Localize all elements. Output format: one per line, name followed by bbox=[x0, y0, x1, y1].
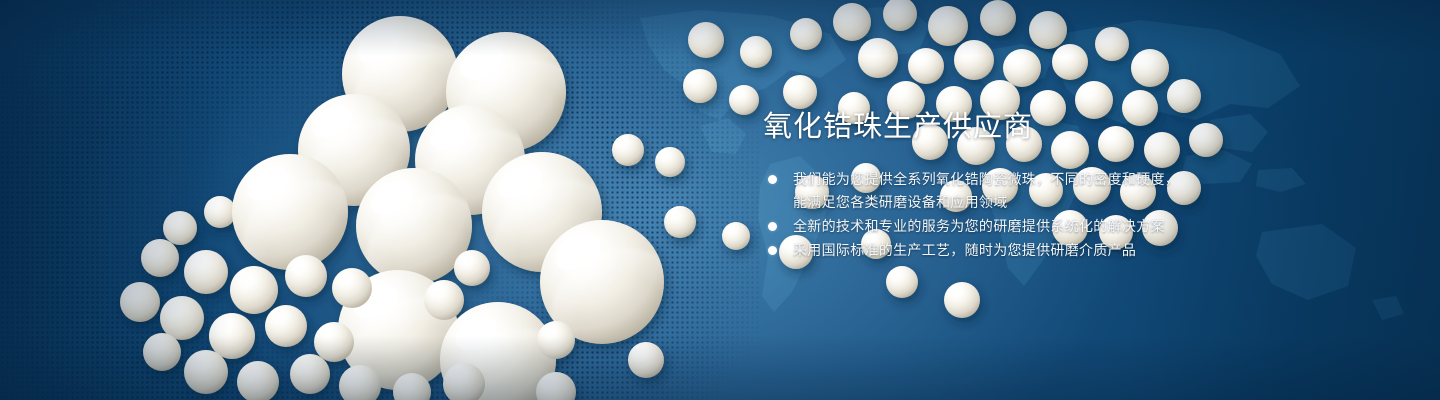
hero-banner: 氧化锆珠生产供应商 我们能为您提供全系列氧化锆陶瓷微珠，不同的密度和硬度， 能满… bbox=[0, 0, 1440, 400]
feature-bullet-item: 全新的技术和专业的服务为您的研磨提供系统化的解决方案 bbox=[763, 215, 1283, 238]
bullet-dot-icon bbox=[768, 246, 777, 255]
bullet-dot-icon bbox=[768, 222, 777, 231]
bullet-line: 全新的技术和专业的服务为您的研磨提供系统化的解决方案 bbox=[793, 215, 1283, 238]
banner-headline: 氧化锆珠生产供应商 bbox=[763, 108, 1283, 146]
banner-copy: 氧化锆珠生产供应商 我们能为您提供全系列氧化锆陶瓷微珠，不同的密度和硬度， 能满… bbox=[763, 108, 1283, 263]
feature-bullet-item: 我们能为您提供全系列氧化锆陶瓷微珠，不同的密度和硬度， 能满足您各类研磨设备和应… bbox=[763, 168, 1283, 214]
bullet-line: 我们能为您提供全系列氧化锆陶瓷微珠，不同的密度和硬度， bbox=[793, 168, 1283, 191]
bullet-line: 采用国际标准的生产工艺，随时为您提供研磨介质产品 bbox=[793, 239, 1283, 262]
feature-bullet-list: 我们能为您提供全系列氧化锆陶瓷微珠，不同的密度和硬度， 能满足您各类研磨设备和应… bbox=[763, 168, 1283, 262]
bullet-dot-icon bbox=[768, 175, 777, 184]
feature-bullet-item: 采用国际标准的生产工艺，随时为您提供研磨介质产品 bbox=[763, 239, 1283, 262]
bullet-line: 能满足您各类研磨设备和应用领域 bbox=[793, 191, 1283, 214]
